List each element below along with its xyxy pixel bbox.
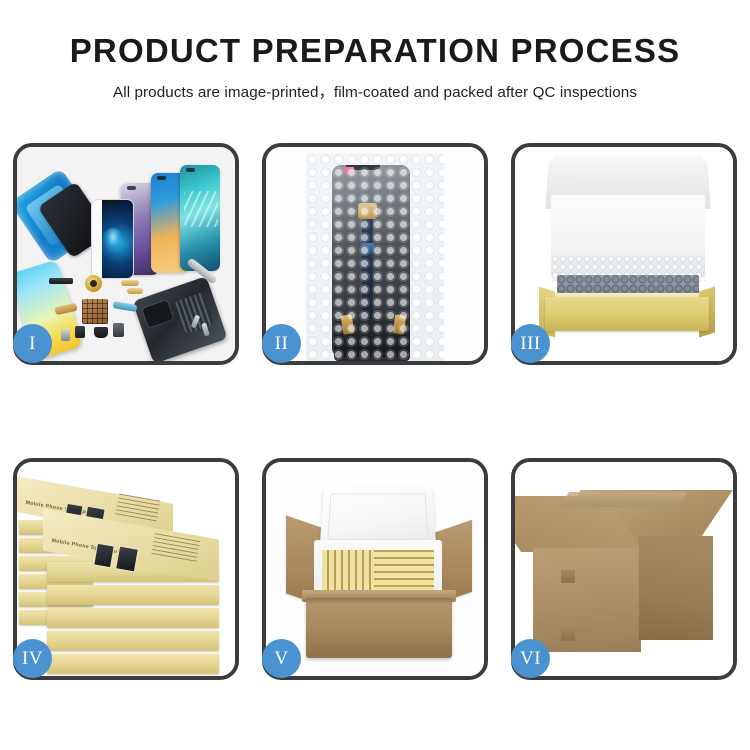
step-panel-1: I [13, 143, 239, 365]
kraft-box [47, 608, 219, 628]
step-panel-3: III [511, 143, 737, 365]
kraft-box [47, 654, 219, 674]
camera-module-icon [75, 326, 85, 338]
carton-side-face [639, 536, 713, 640]
lcd-flex-cable-icon [362, 217, 373, 321]
packing-tape [559, 492, 687, 507]
step-badge-5: V [262, 639, 301, 678]
box-print-phone-icon [115, 545, 139, 572]
step-panel-6: VI [511, 458, 737, 680]
steps-grid: I II [13, 143, 737, 680]
step-image-inner-box [515, 147, 733, 361]
step-badge-2: II [262, 324, 301, 363]
carton-body [306, 598, 452, 658]
step-image-box-stack: Mobile Phone Spare Parts Mobile Phone Sp… [17, 462, 235, 676]
battery-connector-icon [113, 323, 124, 337]
step-badge-3: III [511, 324, 550, 363]
step-badge-1: I [13, 324, 52, 363]
product-preparation-infographic: PRODUCT PREPARATION PROCESS All products… [0, 0, 750, 750]
carton-front-face [533, 548, 641, 652]
step-image-carton-fill [266, 462, 484, 676]
screen-protector-icon [91, 199, 134, 279]
kraft-box-stack: Mobile Phone Spare Parts Mobile Phone Sp… [17, 462, 235, 676]
phone-teal-icon [180, 165, 220, 271]
flex-cable-gold2-icon [127, 288, 143, 294]
phone-logic-board-icon [132, 276, 227, 361]
box-front-panel [545, 297, 709, 331]
kraft-box [47, 631, 219, 651]
step-panel-4: Mobile Phone Spare Parts Mobile Phone Sp… [13, 458, 239, 680]
step-panel-5: V [262, 458, 488, 680]
kraft-box [47, 585, 219, 605]
step-badge-4: IV [13, 639, 52, 678]
carton-tab-bottom [561, 628, 575, 641]
flex-cable-gold-icon [121, 280, 139, 286]
step-image-bubble-wrap [266, 147, 484, 361]
styrofoam-lid [320, 487, 437, 546]
page-subtitle: All products are image-printed，film-coat… [0, 80, 750, 102]
earpiece-icon [49, 278, 73, 284]
connector-icon [61, 329, 70, 341]
copper-mesh-icon [82, 299, 108, 324]
header: PRODUCT PREPARATION PROCESS All products… [0, 0, 750, 102]
carton-tab-top [561, 570, 575, 583]
page-title: PRODUCT PREPARATION PROCESS [0, 34, 750, 67]
loudspeaker-icon [94, 327, 108, 338]
box-lid-flap [553, 155, 703, 175]
step-image-sealed-carton [515, 462, 733, 676]
speaker-coil-icon [85, 275, 102, 292]
step-panel-2: II [262, 143, 488, 365]
step-badge-6: VI [511, 639, 550, 678]
pink-label-icon [344, 167, 354, 174]
yellow-boxes-inside [322, 550, 434, 592]
step-image-phone-parts [17, 147, 235, 361]
